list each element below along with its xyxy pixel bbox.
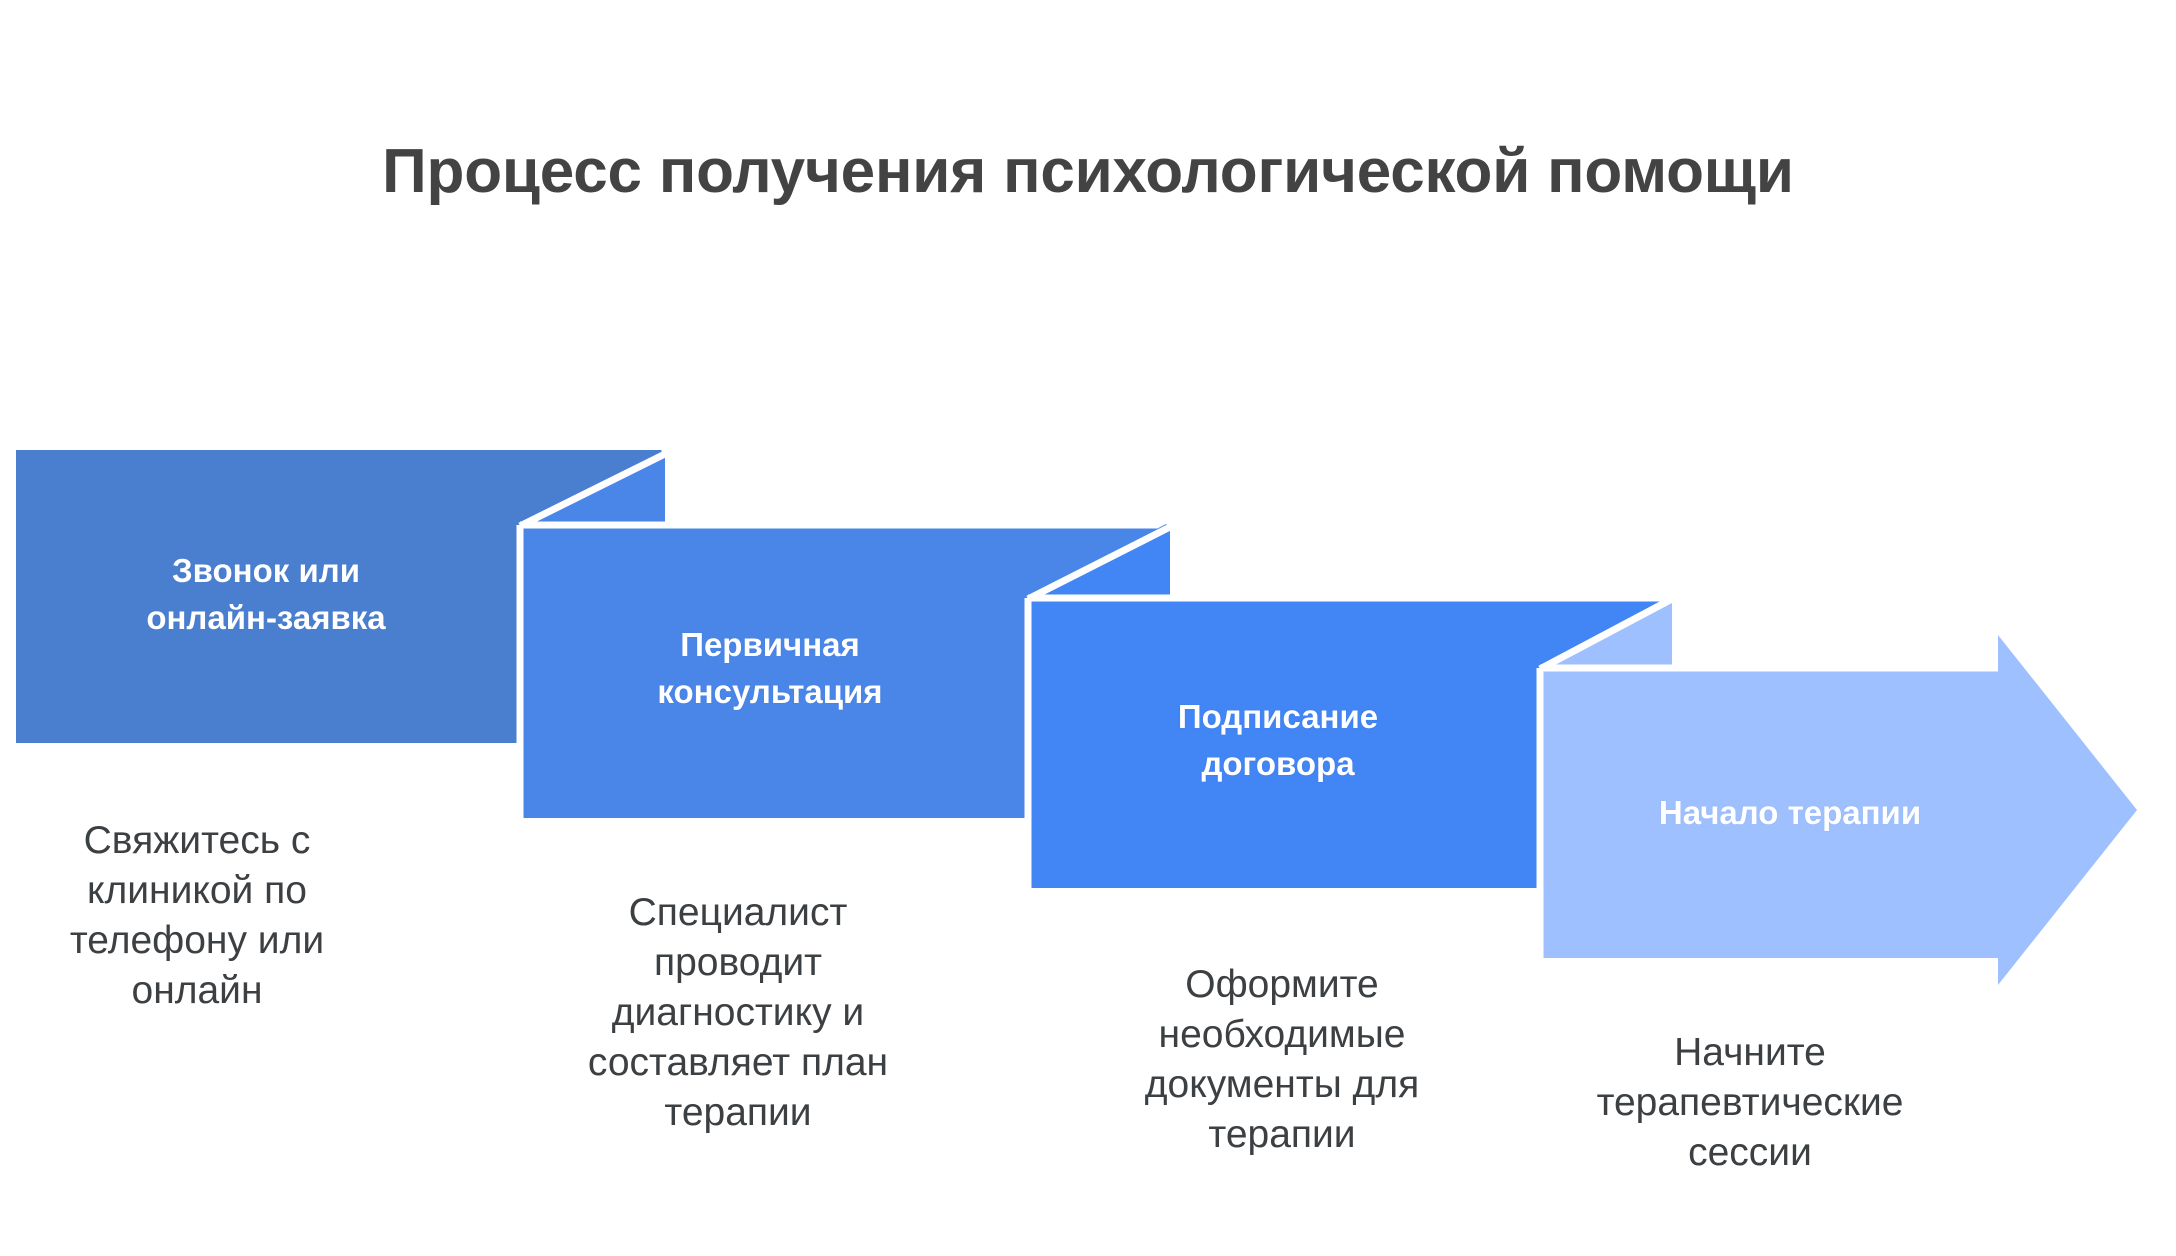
- step-2-label-line-1: Первичная: [520, 622, 1020, 669]
- step-2-caption: Специалист проводит диагностику и состав…: [548, 888, 928, 1138]
- step-1-label-line-1: Звонок или: [16, 548, 516, 595]
- step-2-label: Первичная консультация: [520, 622, 1020, 716]
- step-4-caption: Начните терапевтические сессии: [1540, 1028, 1960, 1178]
- step-3-caption: Оформите необходимые документы для терап…: [1092, 960, 1472, 1160]
- step-3-label-line-2: договора: [1028, 741, 1528, 788]
- step-3-label-line-1: Подписание: [1028, 694, 1528, 741]
- step-4-label-line-1: Начало терапии: [1540, 790, 2040, 837]
- step-1-label: Звонок или онлайн-заявка: [16, 548, 516, 642]
- step-1-caption: Свяжитесь с клиникой по телефону или онл…: [22, 816, 372, 1016]
- step-3-label: Подписание договора: [1028, 694, 1528, 788]
- step-1-label-line-2: онлайн-заявка: [16, 595, 516, 642]
- step-2-label-line-2: консультация: [520, 669, 1020, 716]
- step-4-label: Начало терапии: [1540, 790, 2040, 837]
- slide-canvas: Процесс получения психологической помощи: [0, 0, 2176, 1256]
